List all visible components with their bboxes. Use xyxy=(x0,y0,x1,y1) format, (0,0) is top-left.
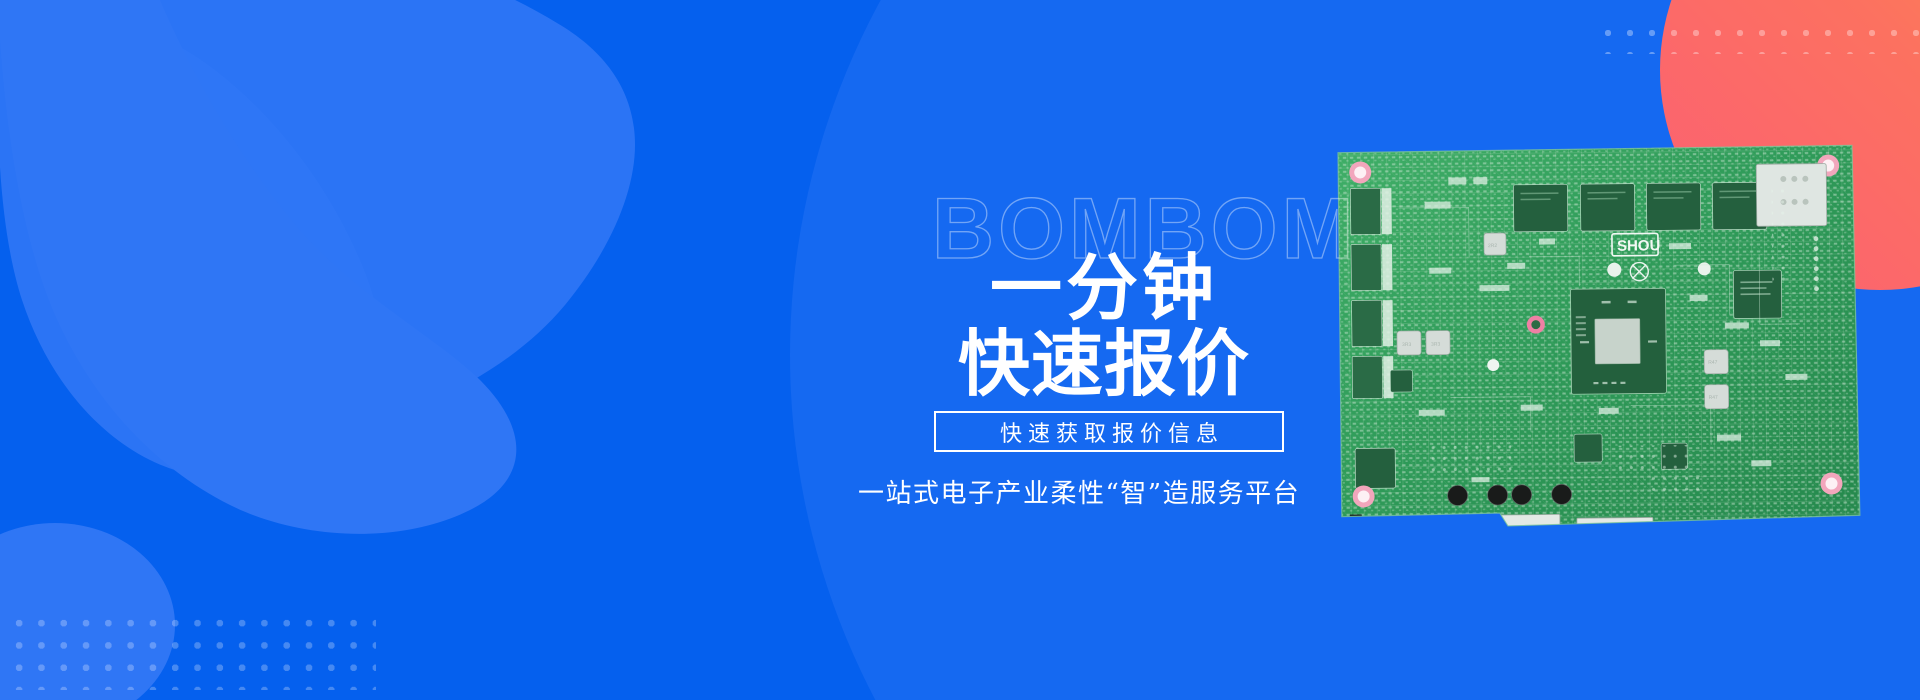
svg-text:R47: R47 xyxy=(1708,360,1717,366)
svg-text:2R2: 2R2 xyxy=(1488,243,1497,249)
svg-text:R47: R47 xyxy=(1709,395,1718,401)
svg-text:3R3: 3R3 xyxy=(1402,342,1411,348)
dot-pattern-bottom-left xyxy=(8,612,376,690)
svg-text:3R3: 3R3 xyxy=(1431,342,1440,348)
get-quote-button-label: 快速获取报价信息 xyxy=(994,416,1224,448)
hero-banner: 3R3 3R3 R47 R47 2R2 xyxy=(0,0,1920,700)
get-quote-button[interactable]: 快速获取报价信息 xyxy=(934,411,1284,452)
dot-pattern-top-right xyxy=(1597,22,1920,54)
pcb-circuit-board-image: 3R3 3R3 R47 R47 2R2 xyxy=(1328,143,1864,537)
svg-text:SHOU: SHOU xyxy=(1617,237,1661,254)
pcb-components: 3R3 3R3 R47 R47 2R2 xyxy=(1328,143,1864,537)
